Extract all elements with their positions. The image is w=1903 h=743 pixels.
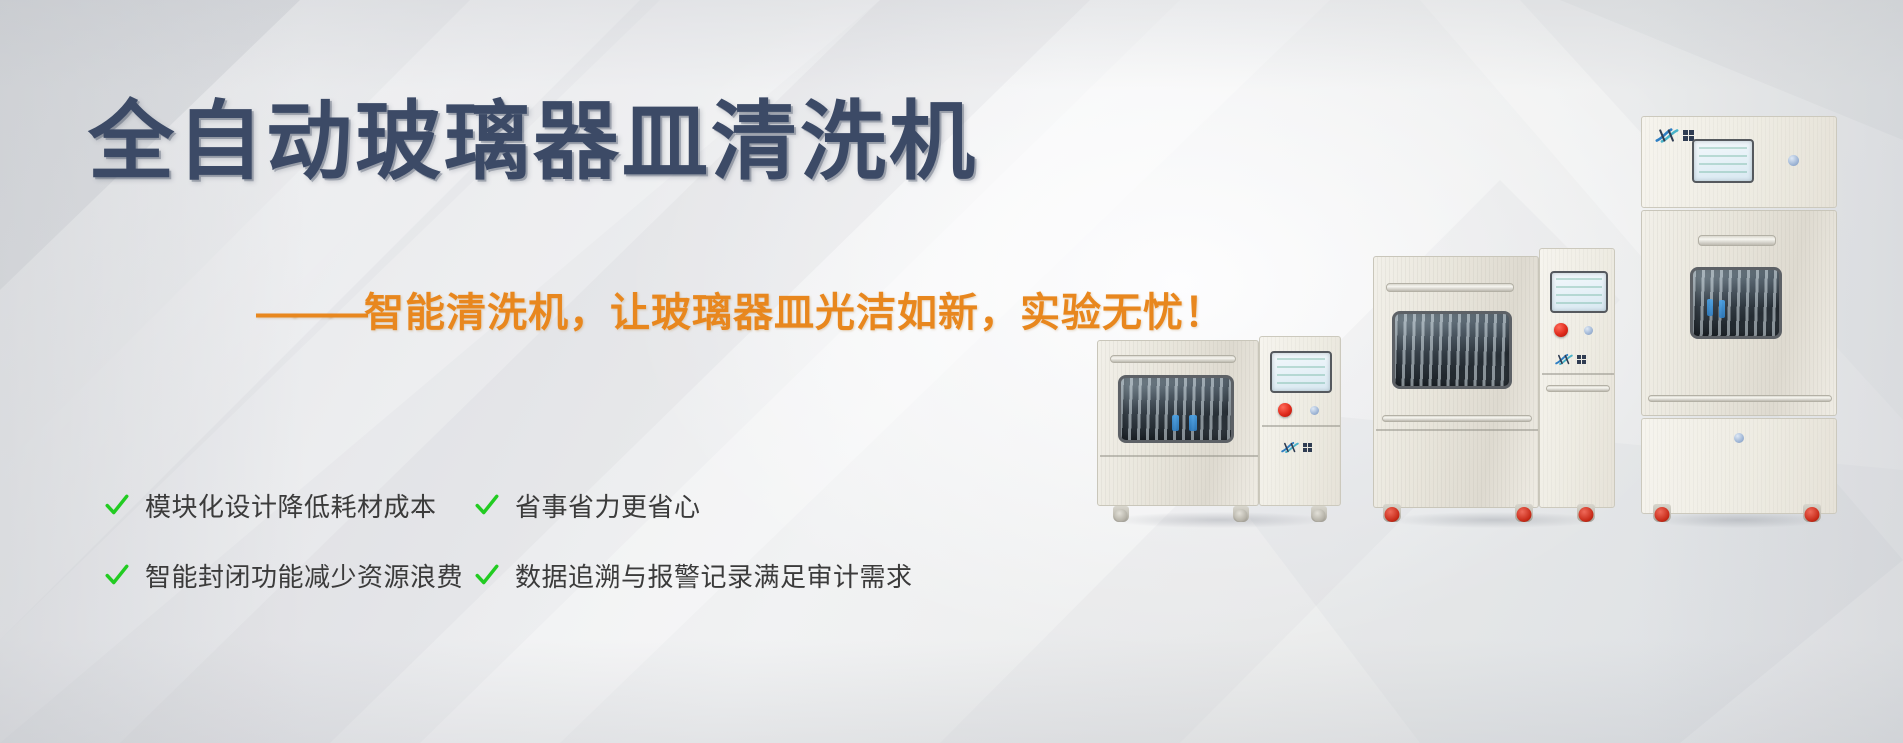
control-head (1641, 116, 1837, 208)
caster-wheel (1515, 504, 1533, 522)
touchscreen-panel (1692, 139, 1754, 183)
lower-door-handle (1382, 415, 1532, 422)
wheel (1655, 507, 1670, 522)
product-undercounter-glassware-washer (1097, 332, 1343, 522)
feature-label: 智能封闭功能减少资源浪费 (145, 557, 463, 594)
wheel (1313, 509, 1326, 522)
caster-wheel (1803, 504, 1821, 522)
blue-rack-clip (1719, 300, 1725, 317)
door-handle (1110, 355, 1236, 363)
wash-chamber-body (1097, 340, 1259, 506)
door-handle (1386, 283, 1514, 292)
wheel (1115, 509, 1128, 522)
control-column (1539, 248, 1615, 508)
touchscreen-panel (1270, 351, 1332, 393)
wheel (1517, 507, 1532, 522)
brand-logo (1280, 441, 1312, 454)
caster-wheel (1577, 504, 1595, 522)
logo-squares-icon (1577, 355, 1586, 364)
brand-logo (1554, 353, 1586, 366)
panel-seam (1542, 373, 1614, 375)
status-indicator-light (1310, 406, 1319, 415)
panel-seam (1376, 429, 1538, 431)
page-subtitle: ———智能清洗机，让玻璃器皿光洁如新，实验无忧！ (256, 290, 1225, 336)
feature-item-3: 智能封闭功能减少资源浪费 (104, 540, 474, 610)
lower-cabinet (1641, 418, 1837, 514)
check-icon (474, 492, 500, 518)
blue-rack-clip (1172, 415, 1180, 431)
emergency-stop-button[interactable] (1278, 403, 1292, 417)
screen-content (1699, 147, 1748, 176)
product-hero-banner: 全自动玻璃器皿清洗机 ———智能清洗机，让玻璃器皿光洁如新，实验无忧！ 模块化设… (0, 0, 1903, 743)
viewing-window (1690, 267, 1782, 339)
product-freestanding-glassware-washer (1373, 244, 1615, 522)
screen-content (1277, 358, 1326, 385)
control-column (1259, 336, 1341, 506)
lower-door-handle (1648, 395, 1832, 402)
wheel (1805, 507, 1820, 522)
wash-chamber-body (1641, 210, 1837, 416)
screen-content (1556, 278, 1601, 305)
panel-seam (1100, 455, 1258, 457)
check-icon (104, 562, 130, 588)
subtitle-dash-rule: ——— (256, 291, 364, 335)
blue-rack-clip (1707, 299, 1713, 316)
feature-item-4: 数据追溯与报警记录满足审计需求 (474, 540, 913, 610)
feature-item-2: 省事省力更省心 (474, 470, 913, 540)
wheel (1235, 509, 1248, 522)
floor-shadow (1388, 512, 1601, 528)
wheel (1385, 507, 1400, 522)
caster-wheel (1113, 506, 1129, 522)
cabinet-lock (1734, 433, 1744, 443)
floor-shadow (1653, 512, 1825, 528)
brand-logo (1654, 127, 1694, 144)
viewing-window (1392, 311, 1512, 389)
feature-label: 数据追溯与报警记录满足审计需求 (515, 557, 913, 594)
door-handle (1698, 235, 1776, 246)
emergency-stop-button[interactable] (1554, 323, 1568, 337)
wheel (1579, 507, 1594, 522)
status-indicator-light (1788, 155, 1799, 166)
product-image-group (1083, 0, 1903, 743)
floor-shadow (1112, 512, 1328, 528)
caster-wheel (1383, 504, 1401, 522)
wash-chamber-body (1373, 256, 1539, 508)
blue-rack-clip (1189, 415, 1197, 431)
page-title: 全自动玻璃器皿清洗机 (88, 96, 978, 189)
viewing-window (1118, 375, 1234, 443)
touchscreen-panel (1550, 271, 1608, 313)
feature-label: 省事省力更省心 (515, 487, 701, 524)
feature-item-1: 模块化设计降低耗材成本 (104, 470, 474, 540)
product-tall-column-glassware-washer (1641, 116, 1837, 522)
glassware-contents (1693, 270, 1779, 336)
logo-squares-icon (1303, 443, 1312, 452)
caster-wheel (1311, 506, 1327, 522)
glassware-contents (1395, 314, 1509, 386)
feature-list: 模块化设计降低耗材成本 省事省力更省心 智能封闭功能减少资源浪费 数据追溯与报警… (104, 470, 913, 610)
status-indicator-light (1584, 326, 1593, 335)
service-door-handle (1546, 385, 1610, 392)
panel-seam (1262, 425, 1340, 427)
copy-block: 全自动玻璃器皿清洗机 ———智能清洗机，让玻璃器皿光洁如新，实验无忧！ 模块化设… (0, 0, 1100, 743)
check-icon (474, 562, 500, 588)
caster-wheel (1233, 506, 1249, 522)
check-icon (104, 492, 130, 518)
feature-label: 模块化设计降低耗材成本 (145, 487, 437, 524)
caster-wheel (1653, 504, 1671, 522)
